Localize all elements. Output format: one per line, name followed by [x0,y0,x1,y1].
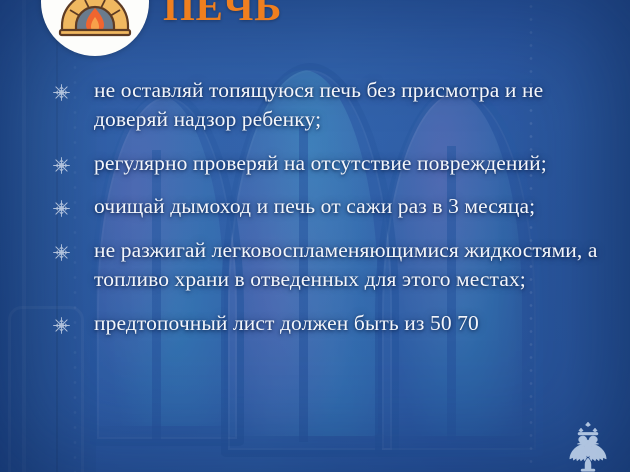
list-item-text: регулярно проверяй на отсутствие поврежд… [94,149,547,178]
snowflake-bullet-icon [52,199,71,218]
list-item-text: не разжигай легковоспламеняющимися жидко… [94,236,620,294]
list-item-text: предтопочный лист должен быть из 50 70 [94,309,479,338]
list-item: не оставляй топящуюся печь без присмотра… [0,76,630,134]
poster-title: ПЕЧЬ [163,0,522,28]
emercom-double-headed-eagle-emblem [560,420,616,472]
list-item: регулярно проверяй на отсутствие поврежд… [0,149,630,178]
list-item: очищай дымоход и печь от сажи раз в 3 ме… [0,192,630,221]
list-item-text: очищай дымоход и печь от сажи раз в 3 ме… [94,192,535,221]
poster-header: ПРАВИЛА БЕЗОПАСНОСТИ: ПЕЧЬ [0,0,630,60]
safety-poster: ПРАВИЛА БЕЗОПАСНОСТИ: ПЕЧЬ не оставляй т… [0,0,630,472]
stove-furnace-icon [41,0,149,56]
snowflake-bullet-icon [52,316,71,335]
list-item-text: не оставляй топящуюся печь без присмотра… [94,76,620,134]
safety-rules-list: не оставляй топящуюся печь без присмотра… [0,76,630,353]
list-item: предтопочный лист должен быть из 50 70 [0,309,630,338]
snowflake-bullet-icon [52,156,71,175]
snowflake-bullet-icon [52,243,71,262]
list-item: не разжигай легковоспламеняющимися жидко… [0,236,630,294]
snowflake-bullet-icon [52,83,71,102]
header-text-block: ПРАВИЛА БЕЗОПАСНОСТИ: ПЕЧЬ [163,0,522,28]
